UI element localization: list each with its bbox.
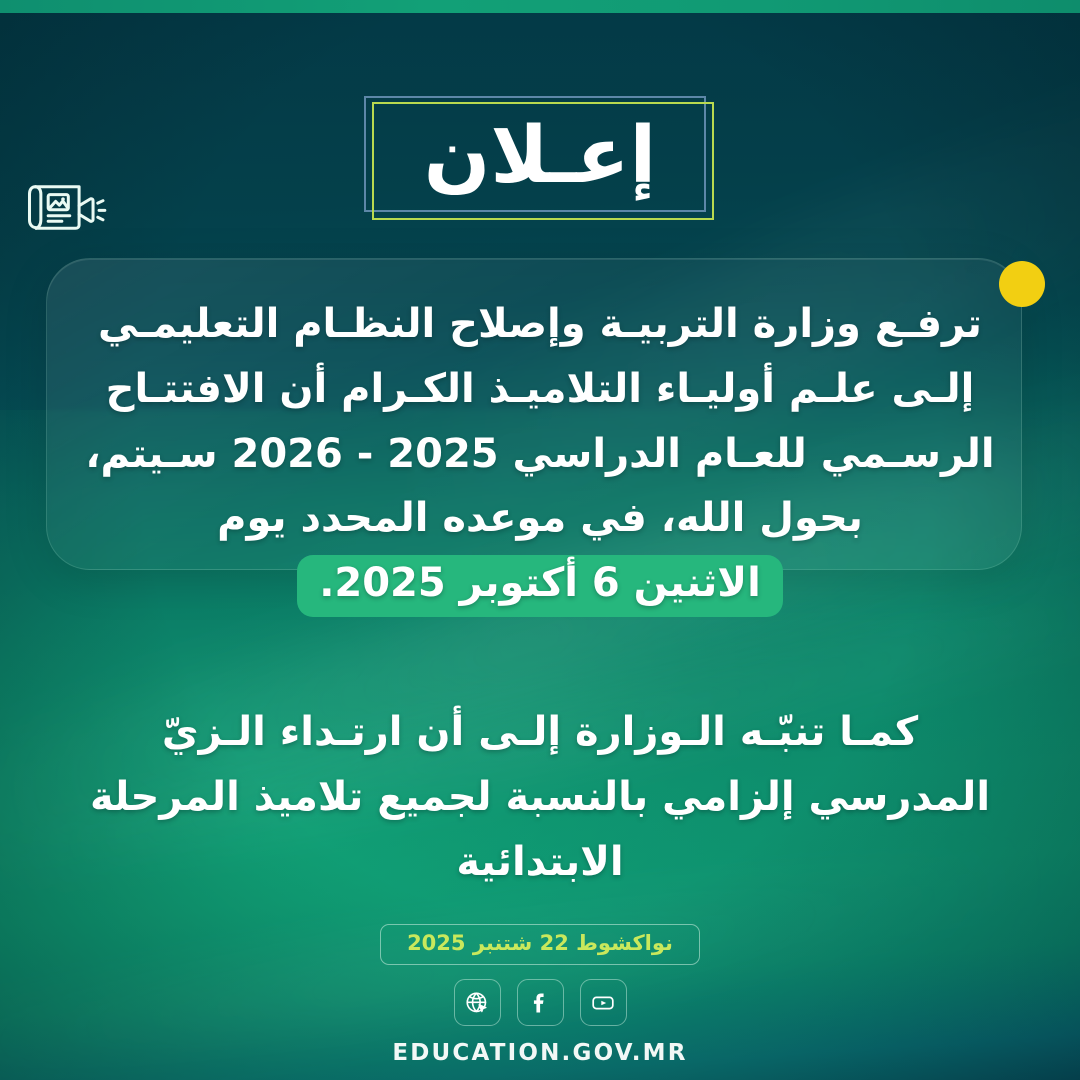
website-globe-icon[interactable] [454, 979, 501, 1026]
facebook-icon[interactable] [517, 979, 564, 1026]
page-title: إعـلان [370, 104, 710, 216]
highlighted-date: الاثنين 6 أكتوبر 2025. [297, 555, 783, 617]
top-accent-strip [0, 0, 1080, 13]
announcement-paragraph-two: كمـا تنبّـه الـوزارة إلـى أن ارتـداء الـ… [72, 700, 1008, 894]
footer-date-badge: نواكشوط 22 شتنبر 2025 [380, 924, 700, 965]
social-links [454, 979, 627, 1026]
footer: نواكشوط 22 شتنبر 2025 [0, 924, 1080, 1066]
announcement-poster: إعـلان ترفـع وزارة التربيـة وإصلاح النظـ… [0, 0, 1080, 1080]
youtube-icon[interactable] [580, 979, 627, 1026]
announcement-lead-text: ترفـع وزارة التربيـة وإصلاح النظـام التع… [85, 301, 994, 541]
uniform-notice-text: كمـا تنبّـه الـوزارة إلـى أن ارتـداء الـ… [90, 709, 990, 885]
title-frame: إعـلان [370, 104, 710, 216]
announcement-paragraph-one: ترفـع وزارة التربيـة وإصلاح النظـام التع… [72, 292, 1008, 617]
footer-website-url[interactable]: EDUCATION.GOV.MR [392, 1040, 687, 1066]
title-block: إعـلان [0, 104, 1080, 216]
